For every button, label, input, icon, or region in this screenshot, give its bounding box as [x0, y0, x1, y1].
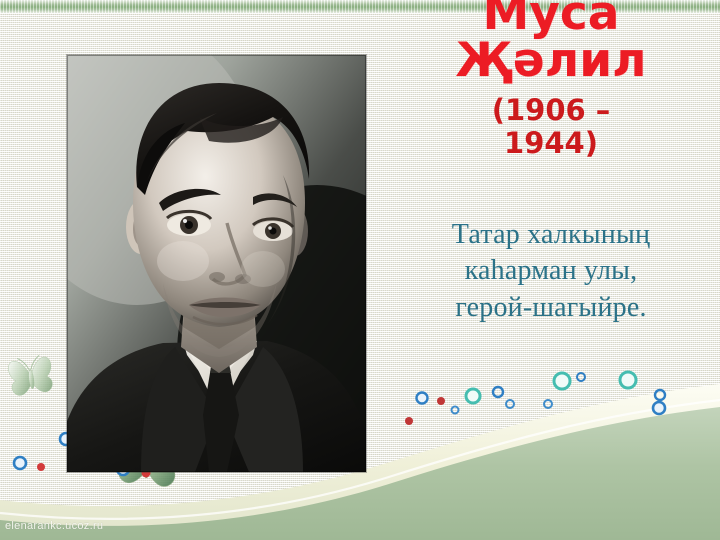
dates-line-2: 1944) — [382, 127, 720, 159]
site-watermark: elenarankc.ucoz.ru — [5, 520, 103, 532]
title-line-2: Җәлил — [382, 38, 720, 84]
presentation-slide: Муса Җәлил (1906 – 1944) Татар халкының … — [0, 0, 720, 540]
page-title: Муса Җәлил — [382, 0, 720, 84]
subtitle-line-2: каһарман улы, — [382, 253, 720, 289]
title-line-1: Муса — [382, 0, 720, 37]
subtitle-line-3: герой-шагыйре. — [382, 290, 720, 326]
dates-line-1: (1906 – — [382, 94, 720, 126]
subtitle-text: Татар халкының каһарман улы, герой-шагый… — [382, 159, 720, 326]
life-dates: (1906 – 1944) — [382, 84, 720, 159]
portrait-photo — [67, 55, 366, 472]
text-column: Муса Җәлил (1906 – 1944) Татар халкының … — [382, 0, 720, 326]
subtitle-line-1: Татар халкының — [382, 217, 720, 253]
